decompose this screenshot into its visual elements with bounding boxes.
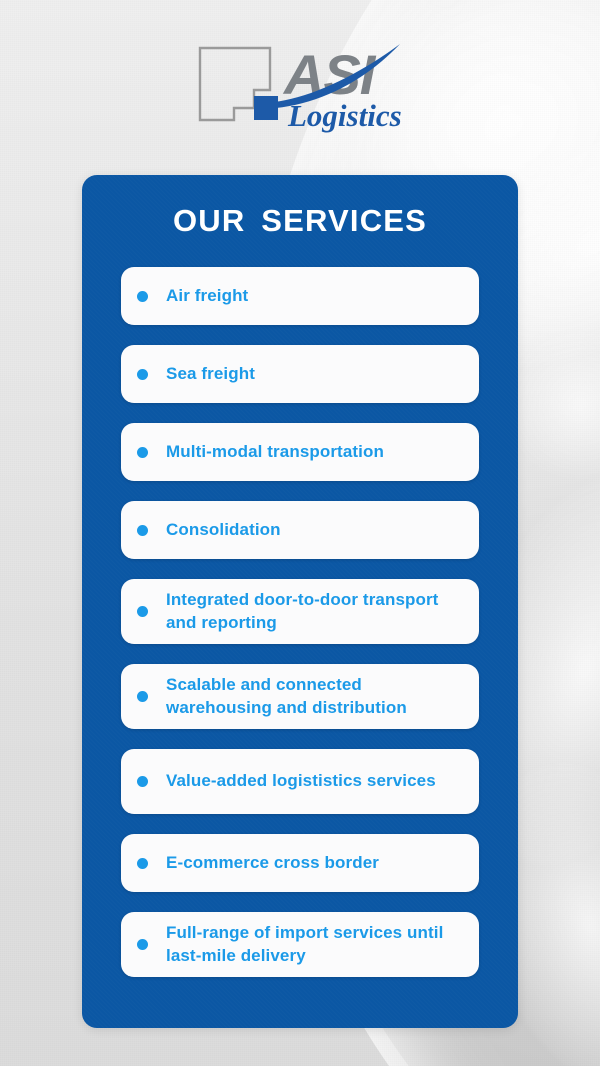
page-title: OUR SERVICES (82, 203, 518, 239)
list-item-label: Air freight (166, 285, 248, 308)
logo-accent-square-icon (254, 96, 278, 120)
bullet-icon (137, 858, 148, 869)
list-item-label: Sea freight (166, 363, 255, 386)
list-item-label: Integrated door-to-door transport and re… (166, 589, 465, 634)
list-item[interactable]: Sea freight (121, 345, 479, 403)
logo-sub-wordmark-text: Logistics (287, 98, 402, 133)
list-item[interactable]: Consolidation (121, 501, 479, 559)
list-item-label: E-commerce cross border (166, 852, 379, 875)
services-poster: ASI Logistics OUR SERVICES Air freight S… (0, 0, 600, 1066)
bullet-icon (137, 525, 148, 536)
list-item[interactable]: Air freight (121, 267, 479, 325)
bullet-icon (137, 776, 148, 787)
asi-logistics-logo: ASI Logistics (196, 38, 412, 134)
bullet-icon (137, 447, 148, 458)
bullet-icon (137, 691, 148, 702)
list-item-label: Consolidation (166, 519, 281, 542)
list-item[interactable]: Full-range of import services until last… (121, 912, 479, 977)
list-item[interactable]: E-commerce cross border (121, 834, 479, 892)
services-panel: OUR SERVICES Air freight Sea freight Mul… (82, 175, 518, 1028)
list-item-label: Full-range of import services until last… (166, 922, 465, 967)
list-item[interactable]: Integrated door-to-door transport and re… (121, 579, 479, 644)
bullet-icon (137, 606, 148, 617)
list-item-label: Scalable and connected warehousing and d… (166, 674, 465, 719)
list-item[interactable]: Value-added logististics services (121, 749, 479, 814)
bullet-icon (137, 369, 148, 380)
list-item[interactable]: Scalable and connected warehousing and d… (121, 664, 479, 729)
bullet-icon (137, 939, 148, 950)
list-item[interactable]: Multi-modal transportation (121, 423, 479, 481)
list-item-label: Multi-modal transportation (166, 441, 384, 464)
bullet-icon (137, 291, 148, 302)
list-item-label: Value-added logististics services (166, 770, 436, 793)
services-list: Air freight Sea freight Multi-modal tran… (82, 267, 518, 977)
logo-svg: ASI Logistics (196, 38, 412, 134)
